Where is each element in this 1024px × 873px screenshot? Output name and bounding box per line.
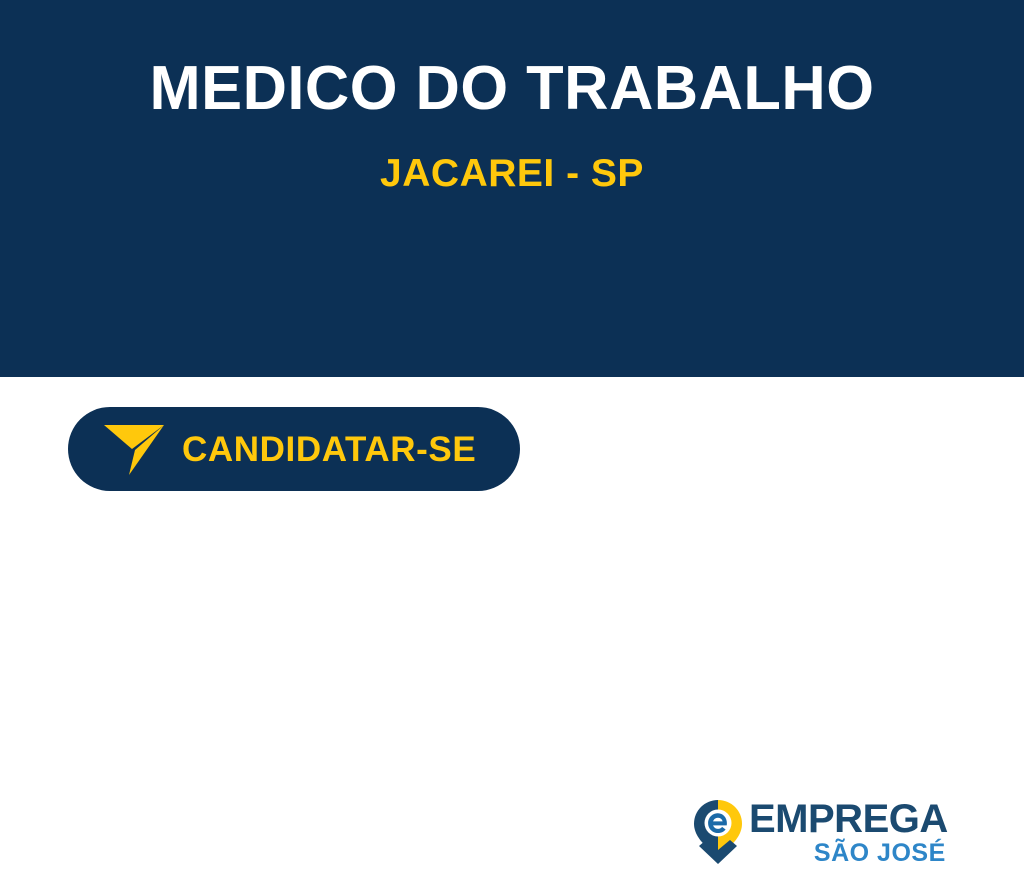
apply-button[interactable]: CANDIDATAR-SE bbox=[68, 407, 520, 491]
page-title: MEDICO DO TRABALHO bbox=[5, 58, 1019, 120]
brand-name: EMPREGA bbox=[749, 799, 948, 839]
job-posting-card: MEDICO DO TRABALHO JACAREI - SP CANDIDAT… bbox=[0, 0, 1024, 538]
footer-bar: CANDIDATAR-SE EMPREGA SÃO JOSÉ bbox=[0, 377, 1024, 538]
apply-button-label: CANDIDATAR-SE bbox=[182, 432, 476, 467]
brand-city: SÃO JOSÉ bbox=[814, 841, 946, 866]
brand-wordmark: EMPREGA SÃO JOSÉ bbox=[749, 795, 948, 866]
send-paper-plane-icon bbox=[104, 423, 166, 475]
location-pin-e-icon bbox=[693, 799, 743, 865]
hero-banner: MEDICO DO TRABALHO JACAREI - SP bbox=[0, 0, 1024, 377]
brand-logo: EMPREGA SÃO JOSÉ bbox=[693, 795, 925, 873]
job-location-subtitle: JACAREI - SP bbox=[0, 154, 1024, 193]
